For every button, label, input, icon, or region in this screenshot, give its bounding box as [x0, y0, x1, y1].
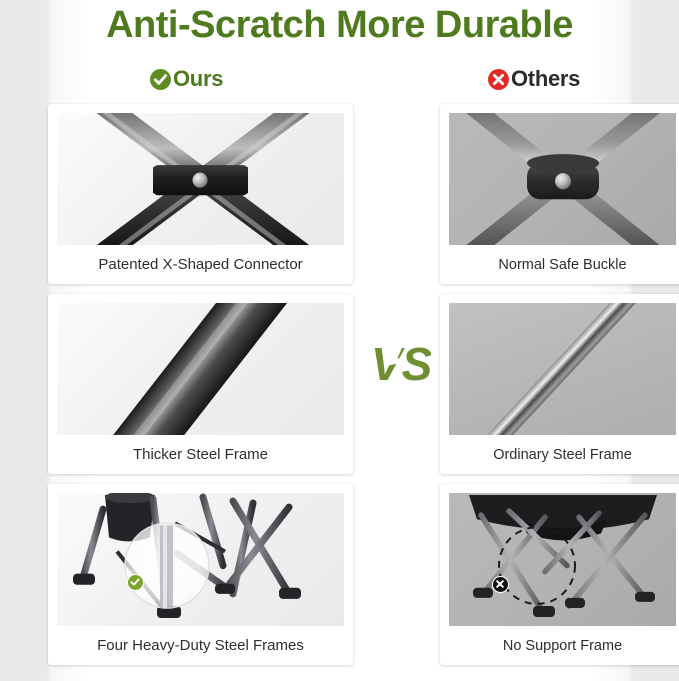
page-title: Anti-Scratch More Durable	[0, 2, 679, 48]
card-others-no-support: No Support Frame	[440, 484, 679, 665]
card-caption: Thicker Steel Frame	[57, 435, 344, 474]
x-shaped-connector-photo	[57, 113, 344, 245]
thin-steel-tube-photo	[449, 303, 676, 435]
chair-base-four-legs-photo	[57, 493, 344, 626]
x-badge-icon	[492, 576, 509, 593]
comparison-infographic: Anti-Scratch More Durable Ours Others	[0, 0, 679, 681]
column-header-ours-label: Ours	[173, 66, 223, 92]
chair-base-no-support-photo	[449, 493, 676, 626]
card-caption: Normal Safe Buckle	[449, 245, 676, 284]
card-ours-thick-frame: Thicker Steel Frame	[48, 294, 353, 474]
card-caption: Four Heavy-Duty Steel Frames	[57, 626, 344, 665]
check-badge-icon	[127, 574, 144, 591]
thick-steel-tube-photo	[57, 303, 344, 435]
vs-badge: VS	[369, 328, 431, 400]
round-buckle-photo	[449, 113, 676, 245]
column-header-ours: Ours	[150, 66, 223, 92]
card-caption: Ordinary Steel Frame	[449, 435, 676, 474]
card-ours-four-frames: Four Heavy-Duty Steel Frames	[48, 484, 353, 665]
card-caption: No Support Frame	[449, 626, 676, 665]
card-caption: Patented X-Shaped Connector	[57, 245, 344, 284]
column-header-others: Others	[488, 66, 580, 92]
card-others-ordinary-frame: Ordinary Steel Frame	[440, 294, 679, 474]
card-ours-connector: Patented X-Shaped Connector	[48, 104, 353, 284]
check-circle-icon	[150, 69, 171, 90]
column-header-others-label: Others	[511, 66, 580, 92]
x-circle-icon	[488, 69, 509, 90]
card-others-buckle: Normal Safe Buckle	[440, 104, 679, 284]
